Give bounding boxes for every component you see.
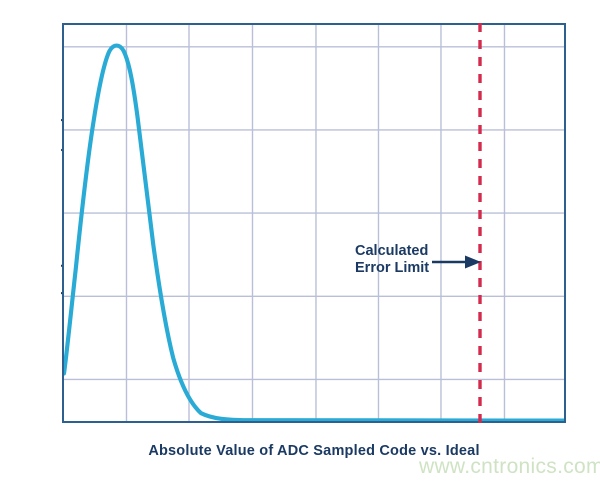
- histogram-curve: [64, 46, 564, 421]
- annotation-calculated-error-limit: Calculated Error Limit: [355, 243, 429, 277]
- right-arrow-icon: [432, 254, 482, 270]
- plot-svg: [64, 25, 564, 421]
- annotation-line-1: Calculated: [355, 243, 429, 260]
- watermark: www.cntronics.com: [419, 455, 600, 479]
- calculated-error-limit-line: [474, 23, 486, 423]
- annotation-line-2: Error Limit: [355, 260, 429, 277]
- chart-figure: Code Histogram Count (Log): [0, 0, 600, 483]
- grid-vertical: [127, 25, 505, 421]
- grid-horizontal: [64, 47, 564, 380]
- plot-area: [62, 23, 566, 423]
